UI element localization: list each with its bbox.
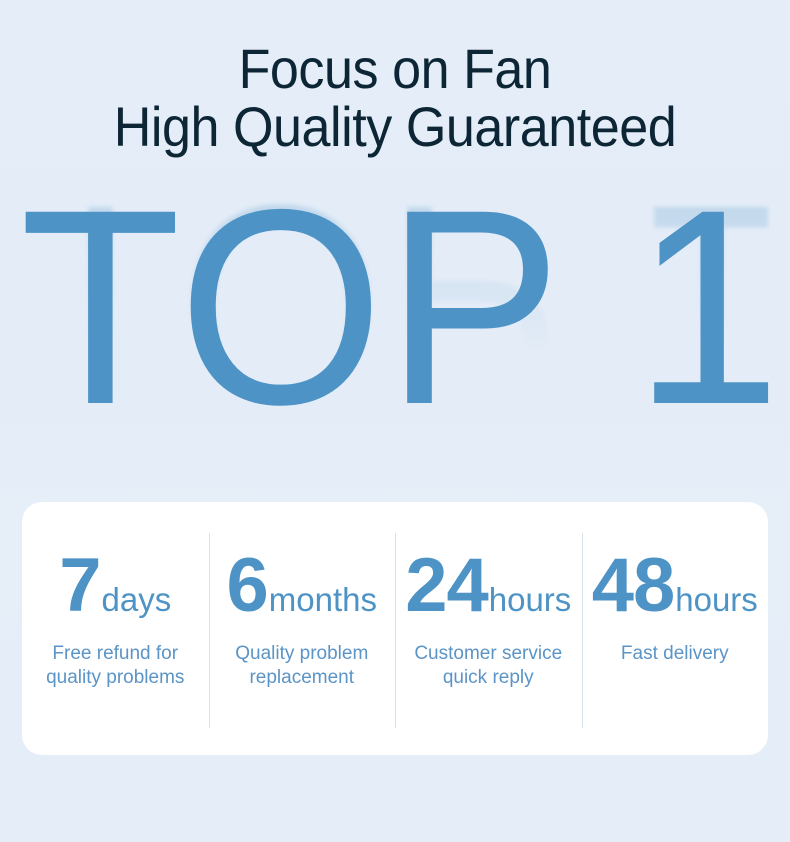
hero-reflection: TOP 1 (20, 196, 771, 414)
stat-description-line-1: Free refund for (46, 642, 184, 666)
stat-item-fast-delivery: 48 hours Fast delivery (582, 502, 769, 755)
stat-description: Quality problem replacement (235, 642, 368, 690)
stat-unit: hours (675, 583, 758, 616)
stat-item-customer-service: 24 hours Customer service quick reply (395, 502, 582, 755)
stat-description-line-1: Fast delivery (621, 642, 729, 666)
stat-unit: months (269, 583, 377, 616)
headline-line-1: Focus on Fan (28, 40, 763, 98)
hero-top-rank: TOP 1 TOP 1 (0, 196, 790, 496)
stat-description: Free refund for quality problems (46, 642, 184, 690)
stat-description: Fast delivery (621, 642, 729, 666)
stat-description-line-1: Quality problem (235, 642, 368, 666)
stat-number: 7 (59, 554, 100, 618)
stat-unit: hours (489, 583, 572, 616)
stat-description-line-1: Customer service (414, 642, 562, 666)
stat-value: 48 hours (592, 554, 758, 618)
headline-line-2: High Quality Guaranteed (28, 98, 763, 156)
stat-number: 24 (405, 554, 488, 618)
page-headline: Focus on Fan High Quality Guaranteed (28, 40, 763, 156)
stat-item-refund: 7 days Free refund for quality problems (22, 502, 209, 755)
stat-number: 48 (592, 554, 675, 618)
stat-description: Customer service quick reply (414, 642, 562, 690)
stat-value: 24 hours (405, 554, 571, 618)
guarantee-stats-card: 7 days Free refund for quality problems … (22, 502, 768, 755)
stat-description-line-2: quality problems (46, 666, 184, 690)
stat-description-line-2: replacement (235, 666, 368, 690)
stat-unit: days (102, 583, 172, 616)
stat-item-replacement: 6 months Quality problem replacement (209, 502, 396, 755)
stat-description-line-2: quick reply (414, 666, 562, 690)
stat-value: 7 days (59, 554, 171, 618)
stat-value: 6 months (227, 554, 378, 618)
stat-number: 6 (227, 554, 268, 618)
